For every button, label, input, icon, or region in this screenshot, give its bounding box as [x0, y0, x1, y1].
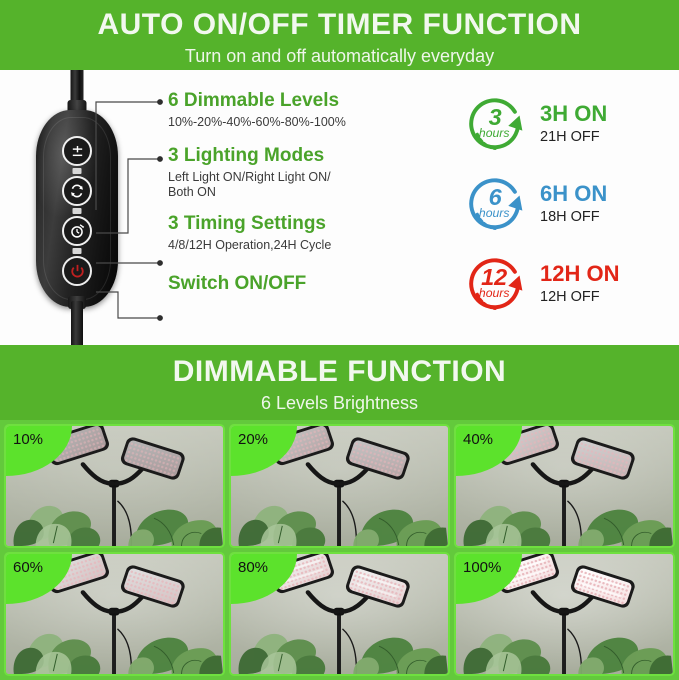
brightness-cell: 60% — [4, 552, 225, 676]
brightness-percent: 80% — [238, 559, 268, 576]
timer-6h-icon: 6 hours — [466, 173, 528, 235]
brightness-percent: 40% — [463, 431, 493, 448]
feature-title: 6 Dimmable Levels — [168, 90, 346, 112]
brightness-cell: 10% — [4, 424, 225, 548]
timer-off-label: 12H OFF — [540, 288, 619, 307]
feature-desc: 10%-20%-40%-60%-80%-100% — [168, 115, 346, 130]
timer-option-12h: 12 hours 12H ON 12H OFF — [466, 244, 671, 324]
timer-options-list: 3 hours 3H ON 21H OFF 6 hours — [466, 84, 671, 324]
dimmable-subtitle: 6 Levels Brightness — [0, 391, 679, 415]
brightness-percent: 100% — [463, 559, 501, 576]
dimmable-banner: DIMMABLE FUNCTION 6 Levels Brightness — [0, 345, 679, 420]
brightness-cell: 80% — [229, 552, 450, 676]
feature-title: Switch ON/OFF — [168, 273, 306, 295]
feature-title: 3 Timing Settings — [168, 213, 331, 235]
page-title: AUTO ON/OFF TIMER FUNCTION — [0, 8, 679, 42]
brightness-cell: 20% — [229, 424, 450, 548]
brightness-percent: 20% — [238, 431, 268, 448]
features-section: 6 Dimmable Levels 10%-20%-40%-60%-80%-10… — [0, 70, 679, 345]
feature-switch-onoff: Switch ON/OFF — [168, 273, 306, 295]
timer-option-3h: 3 hours 3H ON 21H OFF — [466, 84, 671, 164]
dimmable-title: DIMMABLE FUNCTION — [0, 355, 679, 389]
feature-lighting-modes: 3 Lighting Modes Left Light ON/Right Lig… — [168, 145, 331, 200]
brightness-grid: 10% — [0, 420, 679, 680]
timer-off-label: 18H OFF — [540, 208, 607, 227]
timer-12h-icon: 12 hours — [466, 253, 528, 315]
brightness-percent: 60% — [13, 559, 43, 576]
timer-hours-unit: hours — [479, 286, 510, 300]
feature-timing-settings: 3 Timing Settings 4/8/12H Operation,24H … — [168, 213, 331, 253]
timer-3h-icon: 3 hours — [466, 93, 528, 155]
timer-option-6h: 6 hours 6H ON 18H OFF — [466, 164, 671, 244]
page-subtitle: Turn on and off automatically everyday — [0, 44, 679, 68]
brightness-cell: 40% — [454, 424, 675, 548]
brightness-cell: 100% — [454, 552, 675, 676]
brightness-percent: 10% — [13, 431, 43, 448]
infographic-page: AUTO ON/OFF TIMER FUNCTION Turn on and o… — [0, 0, 679, 679]
timer-on-label: 12H ON — [540, 261, 619, 287]
timer-hours-unit: hours — [479, 206, 510, 220]
feature-title: 3 Lighting Modes — [168, 145, 331, 167]
feature-dimmable-levels: 6 Dimmable Levels 10%-20%-40%-60%-80%-10… — [168, 90, 346, 130]
timer-on-label: 3H ON — [540, 101, 607, 127]
timer-off-label: 21H OFF — [540, 128, 607, 147]
timer-hours-unit: hours — [479, 126, 510, 140]
feature-desc: Left Light ON/Right Light ON/ Both ON — [168, 170, 331, 200]
auto-timer-banner: AUTO ON/OFF TIMER FUNCTION Turn on and o… — [0, 0, 679, 70]
timer-on-label: 6H ON — [540, 181, 607, 207]
feature-desc: 4/8/12H Operation,24H Cycle — [168, 238, 331, 253]
